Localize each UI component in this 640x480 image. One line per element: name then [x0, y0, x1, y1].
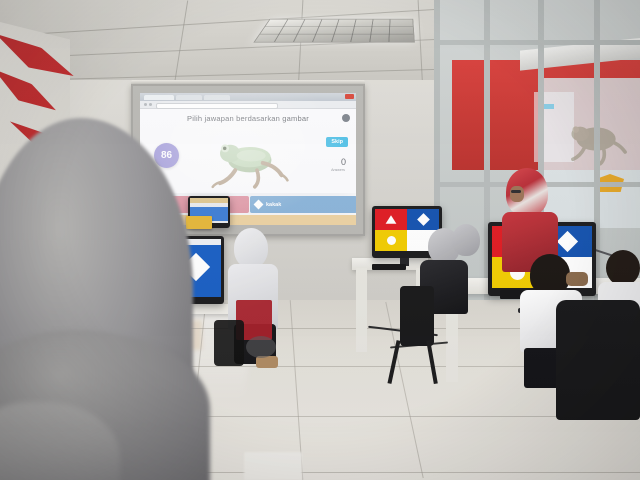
quiz-question-area: Pilih jawapan berdasarkan gambar 86: [140, 109, 356, 193]
answer-cell-yellow[interactable]: [375, 230, 407, 251]
hijab: [452, 224, 480, 256]
frog-image: [208, 131, 290, 189]
face: [510, 186, 524, 202]
diamond-icon: [556, 231, 577, 252]
yellow-label-card: [186, 216, 212, 229]
answer-tile-label: kakak: [266, 202, 281, 208]
chair-black[interactable]: [400, 286, 434, 346]
forward-icon[interactable]: [149, 103, 152, 106]
browser-chrome: [140, 93, 356, 101]
hand: [566, 272, 588, 286]
answer-cell-blue[interactable]: [407, 209, 439, 230]
diamond-icon: [254, 200, 264, 210]
hair: [530, 254, 570, 294]
triangle-icon: [385, 215, 397, 225]
chair-base: [246, 336, 276, 358]
ceiling-light-fixture: [253, 19, 415, 43]
chair-black[interactable]: [214, 320, 244, 366]
url-field[interactable]: [156, 103, 278, 109]
answer-count: 0: [341, 157, 346, 167]
keyboard[interactable]: [372, 264, 406, 270]
question-text: Pilih jawapan berdasarkan gambar: [140, 114, 356, 123]
eyeglasses: [511, 190, 521, 193]
window-close-icon[interactable]: [345, 94, 354, 99]
globe-icon: [342, 114, 350, 122]
foreground-paper: [244, 452, 302, 480]
answer-count-label: Answers: [326, 168, 350, 172]
window-mullion: [434, 40, 640, 45]
screen-banner: [190, 198, 228, 203]
classroom-photo: Pilih jawapan berdasarkan gambar 86: [0, 0, 640, 480]
chair-black[interactable]: [556, 300, 640, 420]
hair: [606, 250, 640, 286]
hijab: [234, 228, 268, 268]
answer-cell-red[interactable]: [375, 209, 407, 230]
skip-button[interactable]: Skip: [326, 137, 348, 147]
circle-icon: [387, 236, 396, 245]
answer-tile-blue[interactable]: kakak: [250, 196, 356, 213]
back-icon[interactable]: [144, 103, 147, 106]
desk-leg: [356, 268, 367, 352]
diamond-icon: [417, 213, 430, 226]
